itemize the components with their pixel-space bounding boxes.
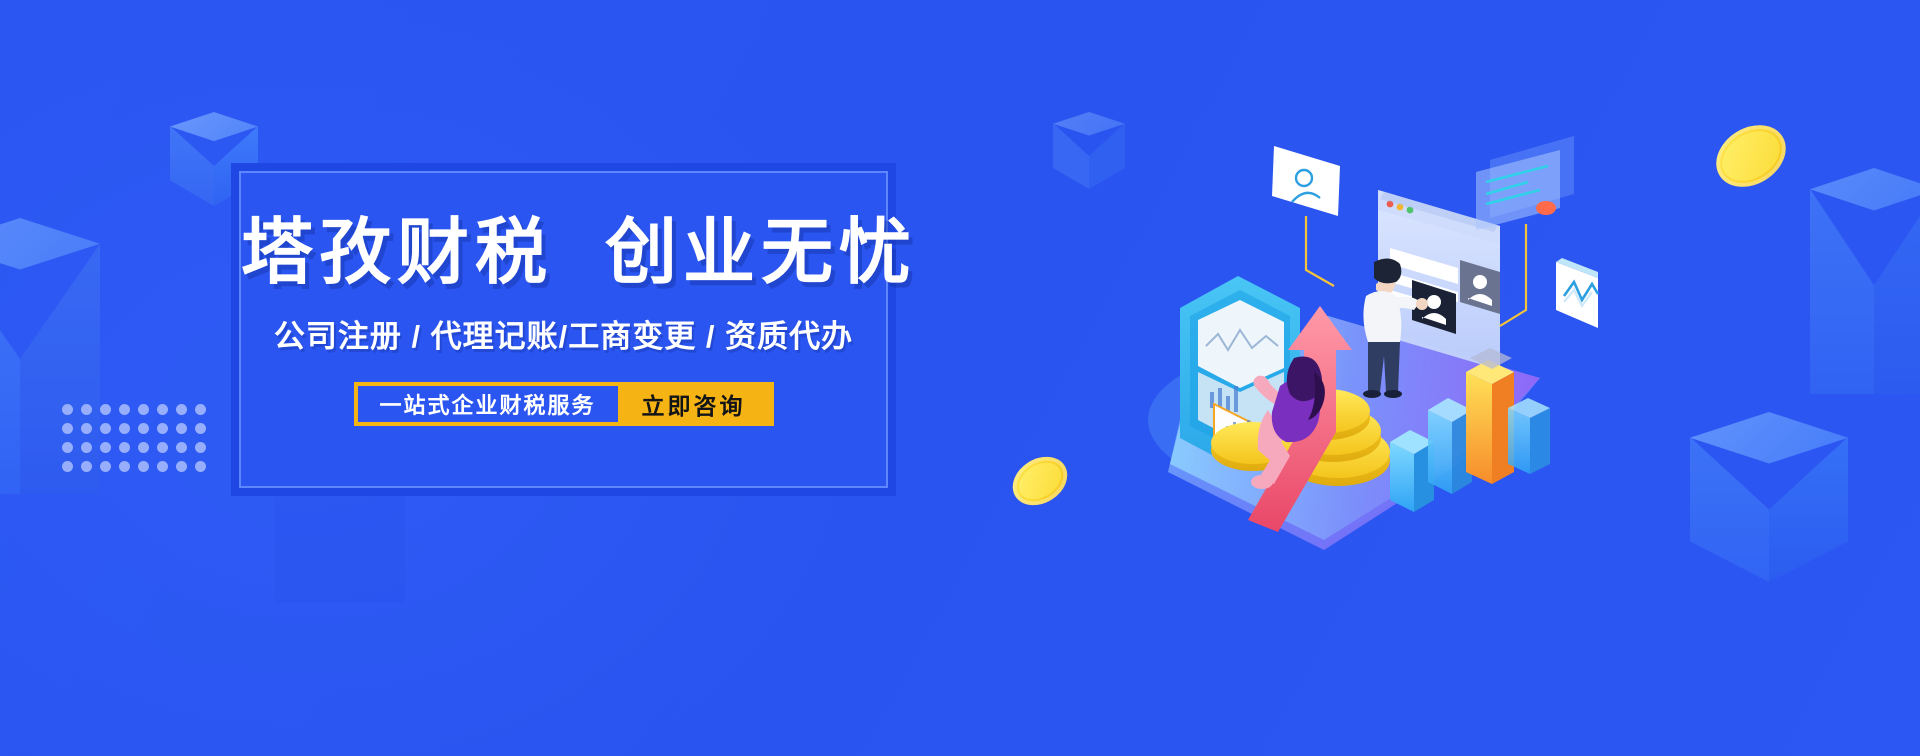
avatar-card-icon	[1272, 146, 1340, 286]
services-subtitle: 公司注册 / 代理记账/工商变更 / 资质代办	[241, 321, 886, 352]
promo-banner: 塔孜财税 创业无忧 公司注册 / 代理记账/工商变更 / 资质代办 一站式企业财…	[0, 0, 1920, 756]
consult-now-button[interactable]: 立即咨询	[618, 386, 770, 422]
cta-bar: 一站式企业财税服务 立即咨询	[353, 382, 773, 426]
line-chart-card-icon	[1556, 258, 1598, 328]
isometric-fintech-illustration	[1128, 120, 1598, 550]
headline-frame: 塔孜财税 创业无忧 公司注册 / 代理记账/工商变更 / 资质代办 一站式企业财…	[231, 163, 896, 496]
iso-column-right-icon	[1810, 168, 1920, 418]
iso-cube-top-middle-icon	[1053, 112, 1125, 192]
iso-cube-right-bottom-icon	[1690, 412, 1848, 584]
dot-grid-decor	[62, 404, 214, 480]
headline-frame-inner: 塔孜财税 创业无忧 公司注册 / 代理记账/工商变更 / 资质代办 一站式企业财…	[239, 171, 888, 488]
cta-tagline: 一站式企业财税服务	[357, 386, 617, 422]
page-title: 塔孜财税 创业无忧	[241, 217, 886, 289]
